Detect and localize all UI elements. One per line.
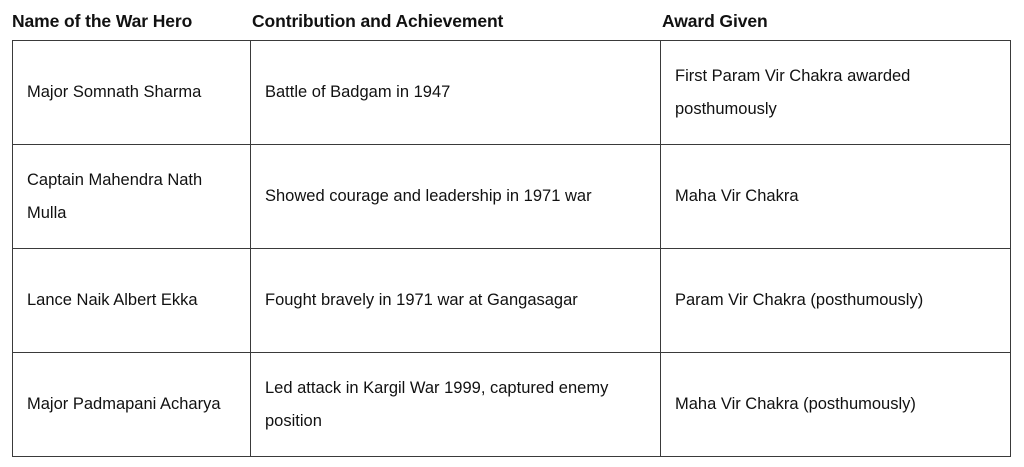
cell-award: Param Vir Chakra (posthumously) (661, 249, 1011, 353)
hero-name-text: Major Somnath Sharma (27, 76, 236, 109)
contribution-text: Battle of Badgam in 1947 (265, 76, 646, 109)
contribution-text: Led attack in Kargil War 1999, captured … (265, 372, 646, 438)
column-header-name: Name of the War Hero (12, 8, 192, 34)
column-header-contribution: Contribution and Achievement (252, 8, 503, 34)
table-row: Major Padmapani Acharya Led attack in Ka… (13, 353, 1011, 457)
cell-award: Maha Vir Chakra (661, 145, 1011, 249)
table-row: Major Somnath Sharma Battle of Badgam in… (13, 41, 1011, 145)
award-text: Maha Vir Chakra (675, 180, 996, 213)
hero-name-text: Major Padmapani Acharya (27, 388, 236, 421)
cell-hero-name: Captain Mahendra Nath Mulla (13, 145, 251, 249)
award-text: Param Vir Chakra (posthumously) (675, 284, 996, 317)
hero-name-text: Lance Naik Albert Ekka (27, 284, 236, 317)
table-column-headers: Name of the War Hero Contribution and Ac… (12, 8, 1010, 36)
contribution-text: Showed courage and leadership in 1971 wa… (265, 180, 646, 213)
cell-contribution: Showed courage and leadership in 1971 wa… (251, 145, 661, 249)
cell-hero-name: Major Padmapani Acharya (13, 353, 251, 457)
cell-contribution: Battle of Badgam in 1947 (251, 41, 661, 145)
table-row: Lance Naik Albert Ekka Fought bravely in… (13, 249, 1011, 353)
award-text: Maha Vir Chakra (posthumously) (675, 388, 996, 421)
cell-hero-name: Lance Naik Albert Ekka (13, 249, 251, 353)
war-heroes-table-page: Name of the War Hero Contribution and Ac… (0, 0, 1024, 467)
cell-contribution: Led attack in Kargil War 1999, captured … (251, 353, 661, 457)
cell-contribution: Fought bravely in 1971 war at Gangasagar (251, 249, 661, 353)
hero-name-text: Captain Mahendra Nath Mulla (27, 164, 236, 230)
column-header-award: Award Given (662, 8, 768, 34)
award-text: First Param Vir Chakra awarded posthumou… (675, 60, 996, 126)
table-body: Major Somnath Sharma Battle of Badgam in… (13, 41, 1011, 457)
contribution-text: Fought bravely in 1971 war at Gangasagar (265, 284, 646, 317)
cell-hero-name: Major Somnath Sharma (13, 41, 251, 145)
table-row: Captain Mahendra Nath Mulla Showed coura… (13, 145, 1011, 249)
war-heroes-table: Major Somnath Sharma Battle of Badgam in… (12, 40, 1011, 457)
cell-award: Maha Vir Chakra (posthumously) (661, 353, 1011, 457)
cell-award: First Param Vir Chakra awarded posthumou… (661, 41, 1011, 145)
